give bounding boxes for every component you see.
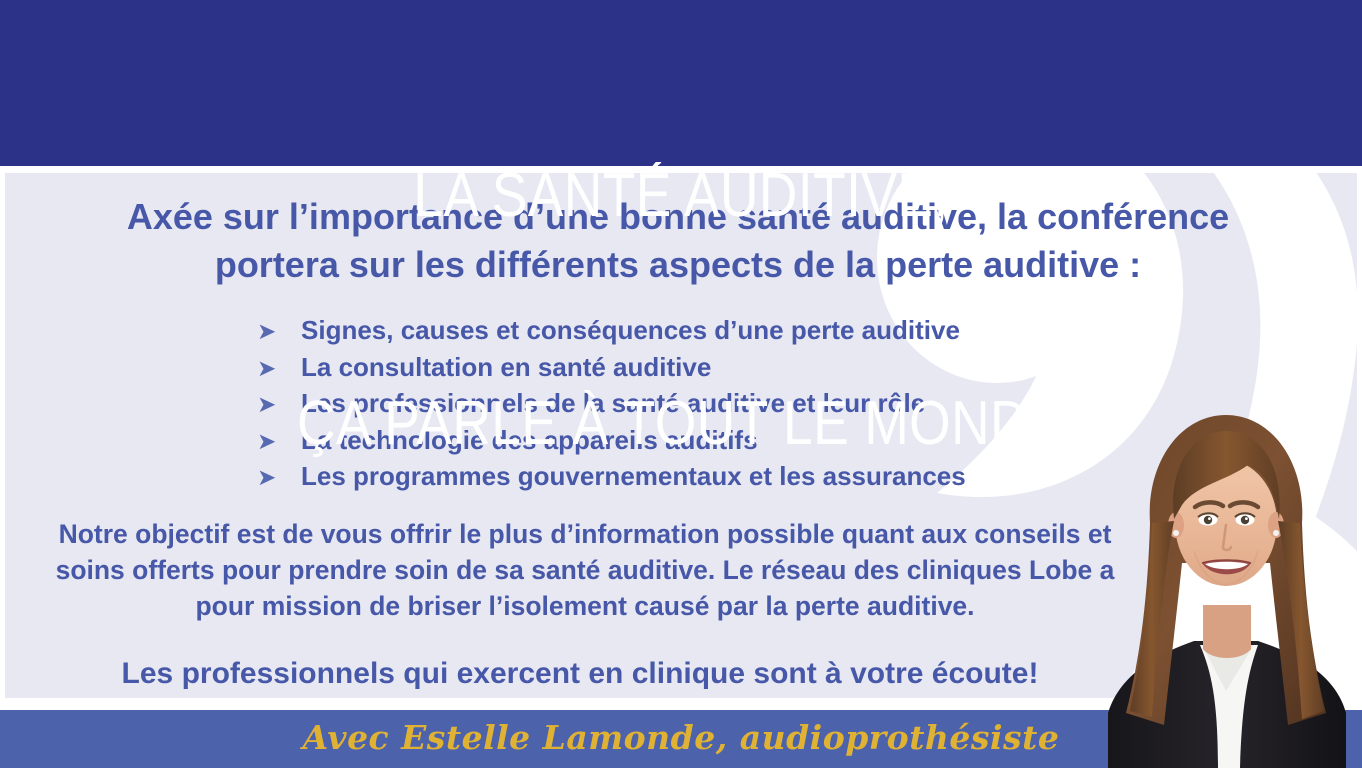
avatar	[1090, 373, 1362, 768]
page-title-line-1: LA SANTÉ AUDITIVE,	[95, 158, 1266, 234]
header-band: LA SANTÉ AUDITIVE, ÇA PARLE À TOUT LE MO…	[0, 0, 1362, 166]
conference-poster: Axée sur l’importance d’une bonne santé …	[0, 0, 1362, 768]
portrait-photo	[1090, 373, 1362, 768]
closing-statement: Les professionnels qui exercent en clini…	[35, 654, 1125, 694]
